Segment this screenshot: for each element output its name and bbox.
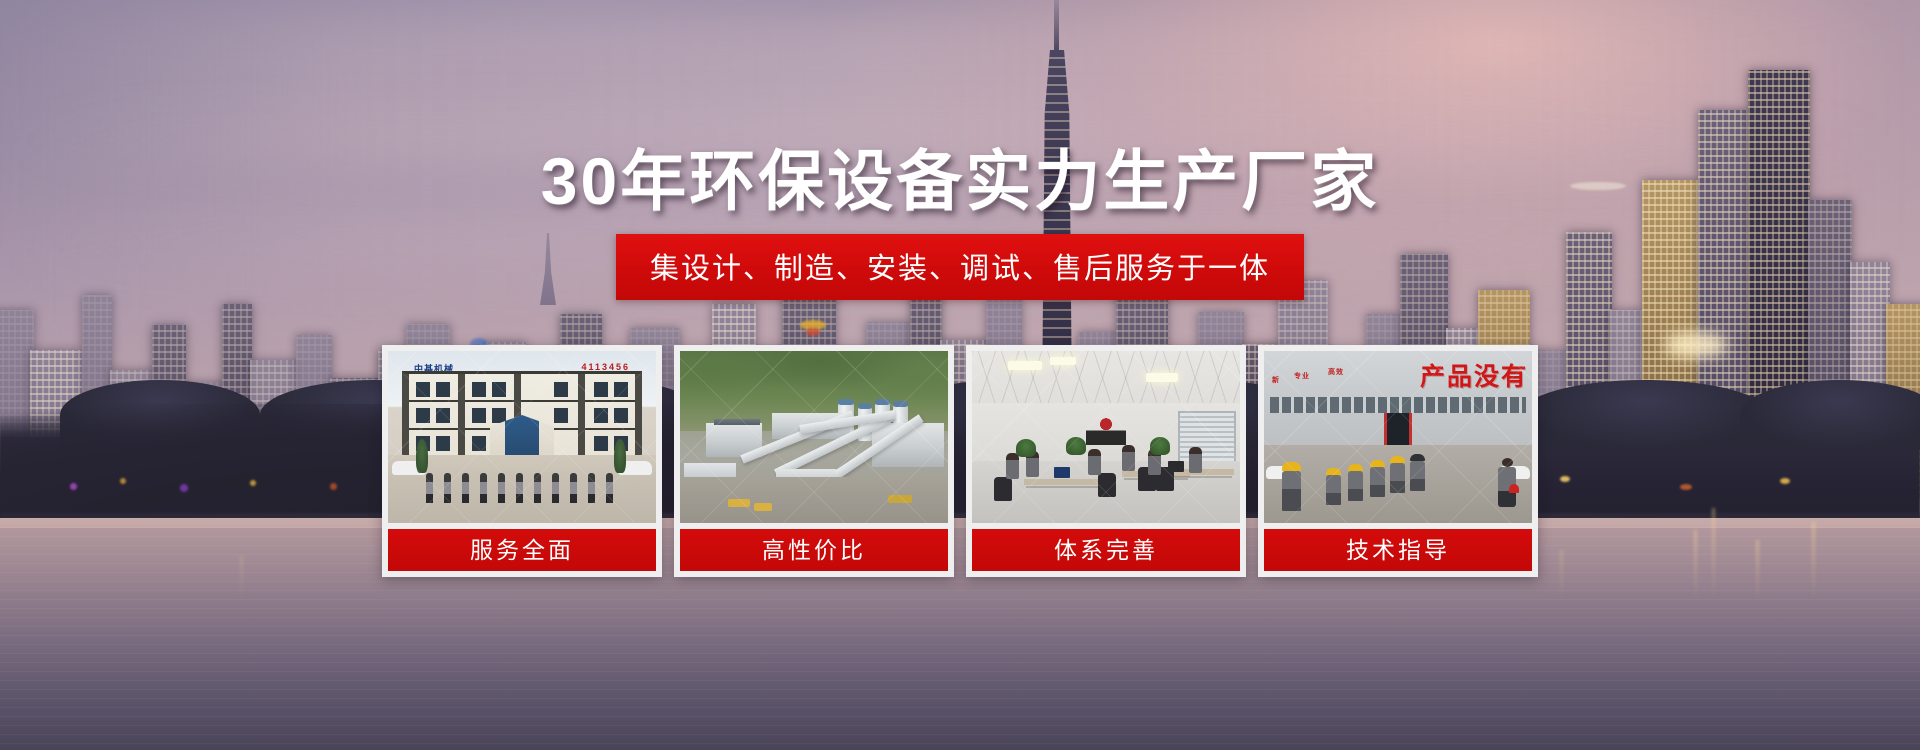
subtitle-badge: 集设计、制造、安装、调试、售后服务于一体 bbox=[616, 234, 1304, 300]
red-helmet-icon bbox=[1509, 484, 1519, 493]
flag bbox=[520, 403, 532, 411]
supervisor-figure bbox=[1498, 458, 1516, 507]
subtitle-text: 集设计、制造、安装、调试、售后服务于一体 bbox=[650, 253, 1270, 285]
factory-window-strip bbox=[1270, 397, 1526, 413]
factory-door bbox=[1384, 413, 1412, 447]
card-photo-headquarters: 中基机械 4113456 bbox=[388, 351, 656, 523]
feature-card[interactable]: 高性价比 bbox=[674, 345, 954, 577]
feature-card[interactable]: 中基机械 4113456 bbox=[382, 345, 662, 577]
card-photo-workers: 产品没有 新 专业 高效 bbox=[1264, 351, 1532, 523]
card-caption: 高性价比 bbox=[680, 529, 948, 571]
feature-card-list: 中基机械 4113456 bbox=[382, 345, 1538, 577]
building-facade bbox=[402, 371, 642, 459]
factory-banner-text: 产品没有 bbox=[1420, 357, 1528, 393]
factory-facade: 产品没有 新 专业 高效 bbox=[1264, 351, 1532, 447]
hero-banner: 30年环保设备实力生产厂家 集设计、制造、安装、调试、售后服务于一体 中基机械 … bbox=[0, 0, 1920, 750]
wall-logo bbox=[1086, 413, 1126, 445]
feature-card[interactable]: 产品没有 新 专业 高效 bbox=[1258, 345, 1538, 577]
office-ceiling bbox=[972, 351, 1240, 405]
card-photo-office bbox=[972, 351, 1240, 523]
card-caption: 体系完善 bbox=[972, 529, 1240, 571]
card-photo-plant bbox=[680, 351, 948, 523]
card-caption: 服务全面 bbox=[388, 529, 656, 571]
feature-card[interactable]: 体系完善 bbox=[966, 345, 1246, 577]
page-title: 30年环保设备实力生产厂家 bbox=[0, 128, 1920, 224]
card-caption: 技术指导 bbox=[1264, 529, 1532, 571]
